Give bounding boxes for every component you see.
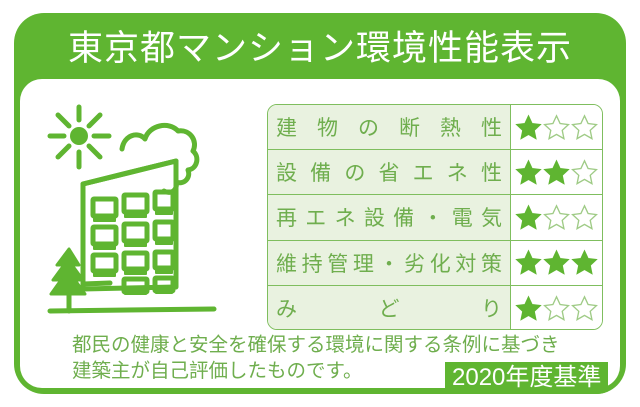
rating-stars-renewable-energy-electricity — [511, 195, 602, 239]
rating-label-insulation: 建物の断熱性 — [268, 105, 511, 149]
star-empty-icon — [543, 295, 570, 322]
rating-stars-insulation — [511, 105, 602, 149]
star-filled-icon — [543, 249, 570, 276]
star-filled-icon — [515, 249, 542, 276]
footer-line-1: 都民の健康と安全を確保する環境に関する条例に基づき — [72, 332, 542, 358]
rating-label-maintenance-durability: 維持管理・劣化対策 — [268, 241, 511, 285]
star-filled-icon — [515, 204, 542, 231]
label-body-panel: 建物の断熱性 設備の省エネ性 — [20, 79, 620, 388]
star-filled-icon — [571, 249, 598, 276]
star-empty-icon — [543, 204, 570, 231]
rating-label-greenery: みどり — [268, 286, 511, 330]
star-filled-icon — [515, 159, 542, 186]
table-row: 維持管理・劣化対策 — [268, 241, 602, 286]
rating-label-renewable-energy-electricity: 再エネ設備・電気 — [268, 195, 511, 239]
standard-year-badge: 2020年度基準 — [445, 362, 608, 394]
star-empty-icon — [571, 295, 598, 322]
page-title: 東京都マンション環境性能表示 — [14, 13, 626, 85]
star-filled-icon — [543, 159, 570, 186]
table-row: 建物の断熱性 — [268, 105, 602, 150]
rating-stars-maintenance-durability — [511, 241, 602, 285]
star-filled-icon — [515, 295, 542, 322]
star-empty-icon — [571, 114, 598, 141]
table-row: 再エネ設備・電気 — [268, 195, 602, 240]
eco-apartment-building-illustration — [36, 89, 251, 319]
star-empty-icon — [571, 204, 598, 231]
star-empty-icon — [543, 114, 570, 141]
star-filled-icon — [515, 114, 542, 141]
table-row: みどり — [268, 286, 602, 330]
rating-stars-greenery — [511, 286, 602, 330]
star-empty-icon — [571, 159, 598, 186]
rating-label-equipment-energy-saving: 設備の省エネ性 — [268, 150, 511, 194]
rating-stars-equipment-energy-saving — [511, 150, 602, 194]
ratings-table: 建物の断熱性 設備の省エネ性 — [267, 104, 603, 330]
environmental-performance-label-card: 東京都マンション環境性能表示 — [14, 13, 626, 394]
table-row: 設備の省エネ性 — [268, 150, 602, 195]
